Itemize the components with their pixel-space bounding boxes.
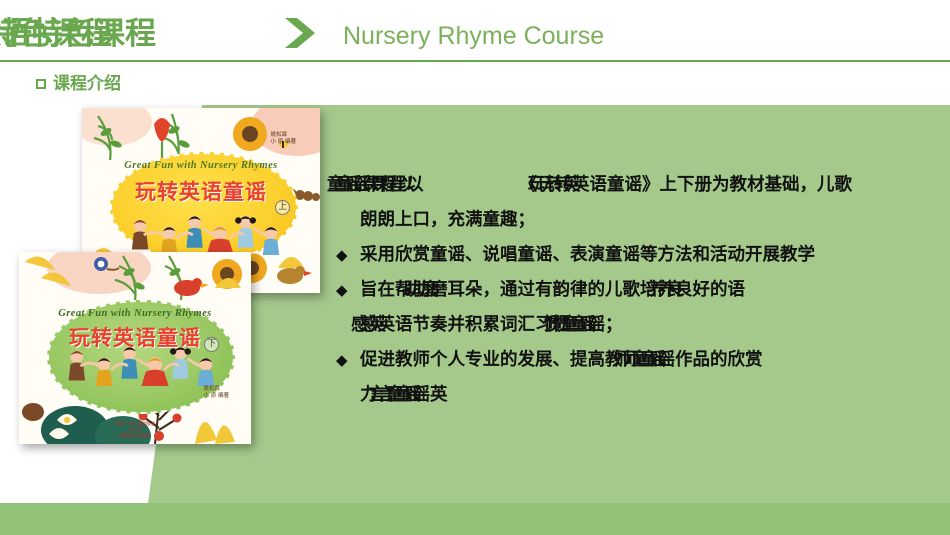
page-title-cn: 特色课程 英语特色课程 bbox=[0, 14, 218, 54]
cover-author-volume-1: 姚松霖 小 原 编著 bbox=[271, 132, 297, 146]
cover-publisher-volume-2: 湖南少年儿童出版社 长沙市 湖南教育出版社 bbox=[115, 422, 156, 440]
description-line: 感英感英感英语节奏并积累词汇习惯童谣惯童谣惯童谣； bbox=[336, 308, 936, 343]
description-text: 耳朵，通过有韵律的儿歌培 bbox=[448, 280, 658, 300]
description-text: 采用欣赏童谣、说唱童谣、表演童谣等方法和活动开展教学 bbox=[360, 245, 815, 265]
chevron-right-icon bbox=[283, 16, 323, 50]
book-cover-volume-2: Great Fun with Nursery Rhymes 玩转英语童谣 下 姚… bbox=[19, 252, 251, 444]
header-divider bbox=[0, 60, 950, 62]
description-text: 语童谣》上下册为教材基础，儿歌 bbox=[590, 175, 853, 195]
description-text: 促进教师个人专业的发展、提高教 bbox=[360, 350, 623, 370]
description-line: 朗朗上口，充满童趣； bbox=[336, 203, 936, 238]
diamond-bullet-icon: ◆ bbox=[336, 238, 360, 273]
description-text: 语节奏并积累词汇习 bbox=[395, 315, 553, 335]
overlapped-text: 童谣课程以童谣课程以童谣课程以 bbox=[336, 168, 424, 203]
cover-title-en-volume-1: Great Fun with Nursery Rhymes bbox=[82, 160, 320, 171]
description-text: 好的语 bbox=[693, 280, 746, 300]
description-line: ◆促进教师个人专业的发展、提高教师童谣师童谣师童谣作品的欣赏 bbox=[336, 343, 936, 378]
overlapped-text: 言童谣言童谣言童谣 bbox=[378, 378, 431, 413]
overlapped-text: 感英感英感英 bbox=[360, 308, 395, 343]
overlapped-text: 玩转英玩转英玩转英 bbox=[537, 168, 590, 203]
cover-volume-badge-1: 上 bbox=[275, 200, 290, 215]
diamond-bullet-icon: ◆ bbox=[336, 273, 360, 308]
cover-title-en-volume-2: Great Fun with Nursery Rhymes bbox=[19, 308, 251, 319]
overlapped-text: 助磨助磨助磨 bbox=[413, 273, 448, 308]
description-line: 力言童谣言童谣言童谣英 bbox=[336, 378, 936, 413]
page-header: 特色课程 英语特色课程 Nursery Rhyme Course bbox=[0, 0, 950, 62]
cover-children-illustration-2 bbox=[19, 346, 251, 386]
section-label: 课程介绍 bbox=[36, 71, 121, 97]
diamond-bullet-icon: ◆ bbox=[336, 343, 360, 378]
cover-author-volume-2: 姚松霖 小 原 编著 bbox=[204, 386, 230, 400]
course-description: 童谣课程以童谣课程以童谣课程以《玩转英玩转英玩转英语童谣》上下册为教材基础，儿歌… bbox=[336, 168, 936, 413]
description-text: 朗朗上口，充满童趣； bbox=[360, 210, 535, 230]
description-text: 作品的欣赏 bbox=[675, 350, 763, 370]
page-title-cn-layer-2: 英语特色课程 bbox=[0, 14, 156, 54]
description-line: 童谣课程以童谣课程以童谣课程以《玩转英玩转英玩转英语童谣》上下册为教材基础，儿歌 bbox=[336, 168, 936, 203]
overlapped-text: 惯童谣惯童谣惯童谣 bbox=[553, 308, 606, 343]
overlapped-text: 师童谣师童谣师童谣 bbox=[623, 343, 676, 378]
page-title-en: Nursery Rhyme Course bbox=[343, 20, 604, 52]
overlapped-text: 养良养良养良 bbox=[658, 273, 693, 308]
description-text: 英 bbox=[430, 385, 448, 405]
footer-bar bbox=[0, 503, 950, 535]
description-text: ； bbox=[605, 315, 623, 335]
description-line: ◆旨在帮助磨助磨助磨耳朵，通过有韵律的儿歌培养良养良养良好的语 bbox=[336, 273, 936, 308]
cover-children-illustration-1 bbox=[82, 215, 320, 255]
square-bullet-icon bbox=[36, 79, 46, 89]
description-line: ◆采用欣赏童谣、说唱童谣、表演童谣等方法和活动开展教学 bbox=[336, 238, 936, 273]
section-label-text: 课程介绍 bbox=[53, 71, 121, 97]
